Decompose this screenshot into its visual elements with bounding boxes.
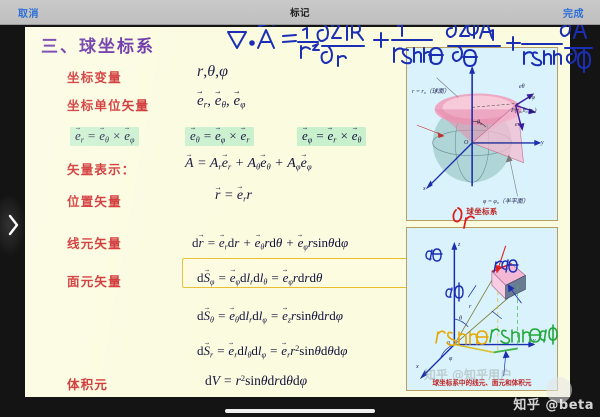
- formula-line-element: dr = erdr + eθrdθ + eφrsinθdφ: [192, 235, 348, 251]
- label-unit-vectors: 坐标单位矢量: [67, 95, 149, 114]
- formula-surface-element-r: dSr = erdlθdlφ = err2sinθdθdφ: [197, 343, 347, 359]
- cancel-button[interactable]: 取消: [14, 3, 43, 22]
- figure-caption-sphere: 球坐标系: [407, 206, 557, 217]
- markup-screen: 取消 标记 完成 三、球坐标系 坐标变量 r,θ,φ 坐标单位矢量 er, eθ…: [0, 0, 600, 417]
- identity-etheta: eθ = eφ × er: [185, 127, 254, 146]
- figure-label-sphere-surface: r = r₀（球面）: [412, 86, 450, 95]
- page-title: 标记: [0, 5, 600, 19]
- label-volume-element: 体积元: [67, 374, 108, 393]
- figure2-label-origin: o: [447, 340, 450, 346]
- formula-volume-element: dV = r2sinθdrdθdφ: [205, 373, 307, 389]
- top-toolbar: 取消 标记 完成: [0, 0, 600, 25]
- image-stage[interactable]: 三、球坐标系 坐标变量 r,θ,φ 坐标单位矢量 er, eθ, eφ er =…: [0, 25, 600, 417]
- sphere-diagram: [407, 48, 557, 220]
- figure-label-e-r: er: [515, 122, 520, 128]
- formula-coordinate-variables: r,θ,φ: [197, 63, 228, 81]
- figure-label-axis-x: x: [423, 186, 426, 192]
- label-surface-element: 面元矢量: [67, 271, 122, 290]
- previous-page-chevron[interactable]: [0, 193, 26, 257]
- label-line-element: 线元矢量: [67, 233, 122, 252]
- slide-image[interactable]: 三、球坐标系 坐标变量 r,θ,φ 坐标单位矢量 er, eθ, eφ er =…: [25, 27, 570, 397]
- formula-vector-representation: A = Arer + Aθeθ + Aφeφ: [185, 156, 312, 172]
- figure-label-e-phi: eφ: [529, 95, 535, 101]
- identity-ephi: eφ = er × eθ: [297, 127, 366, 146]
- figure-label-half-plane: φ = φ₀（半平面）: [483, 196, 529, 205]
- watermark-ghost: 知乎 @知乎用户: [424, 366, 512, 383]
- figure2-label-phi: φ: [449, 356, 452, 362]
- figure-label-theta0: θ₀: [477, 120, 482, 126]
- formula-surface-element-phi: dSφ = eφdlrdlθ = eφrdrdθ: [197, 270, 322, 286]
- section-heading: 三、球坐标系: [41, 32, 155, 57]
- done-button[interactable]: 完成: [559, 3, 588, 22]
- figure2-label-axis-x: x: [416, 364, 419, 370]
- label-position-vector: 位置矢量: [67, 191, 122, 210]
- watermark: 知乎 @beta: [513, 394, 594, 413]
- figure-label-origin: O: [464, 140, 468, 146]
- figure-label-axis-y: y: [541, 140, 544, 146]
- figure2-label-axis-y: y: [533, 338, 536, 344]
- formula-unit-vectors: er, eθ, eφ: [197, 93, 245, 111]
- figure2-label-theta: θ: [459, 316, 462, 322]
- formula-surface-element-theta: dSθ = eθdlrdlφ = ezrsinθdrdφ: [197, 308, 343, 324]
- figure2-label-r: r: [469, 304, 471, 310]
- figure-label-e-theta: eθ: [519, 84, 525, 90]
- chevron-right-icon: [8, 214, 19, 236]
- formula-position-vector: r = err: [215, 188, 252, 204]
- figure2-label-axis-z: z: [458, 242, 460, 248]
- figure-label-point-p: P(r₀,θ₀,φ₀): [511, 108, 537, 114]
- figure-spherical-coordinate-system[interactable]: r = r₀（球面） P(r₀,θ₀,φ₀) φ = φ₀（半平面） eθ eφ…: [406, 47, 558, 221]
- identity-er: er = eθ × eφ: [70, 127, 139, 146]
- home-indicator: [225, 409, 375, 413]
- label-vector-representation: 矢量表示：: [67, 159, 136, 178]
- label-coordinate-variables: 坐标变量: [67, 67, 122, 86]
